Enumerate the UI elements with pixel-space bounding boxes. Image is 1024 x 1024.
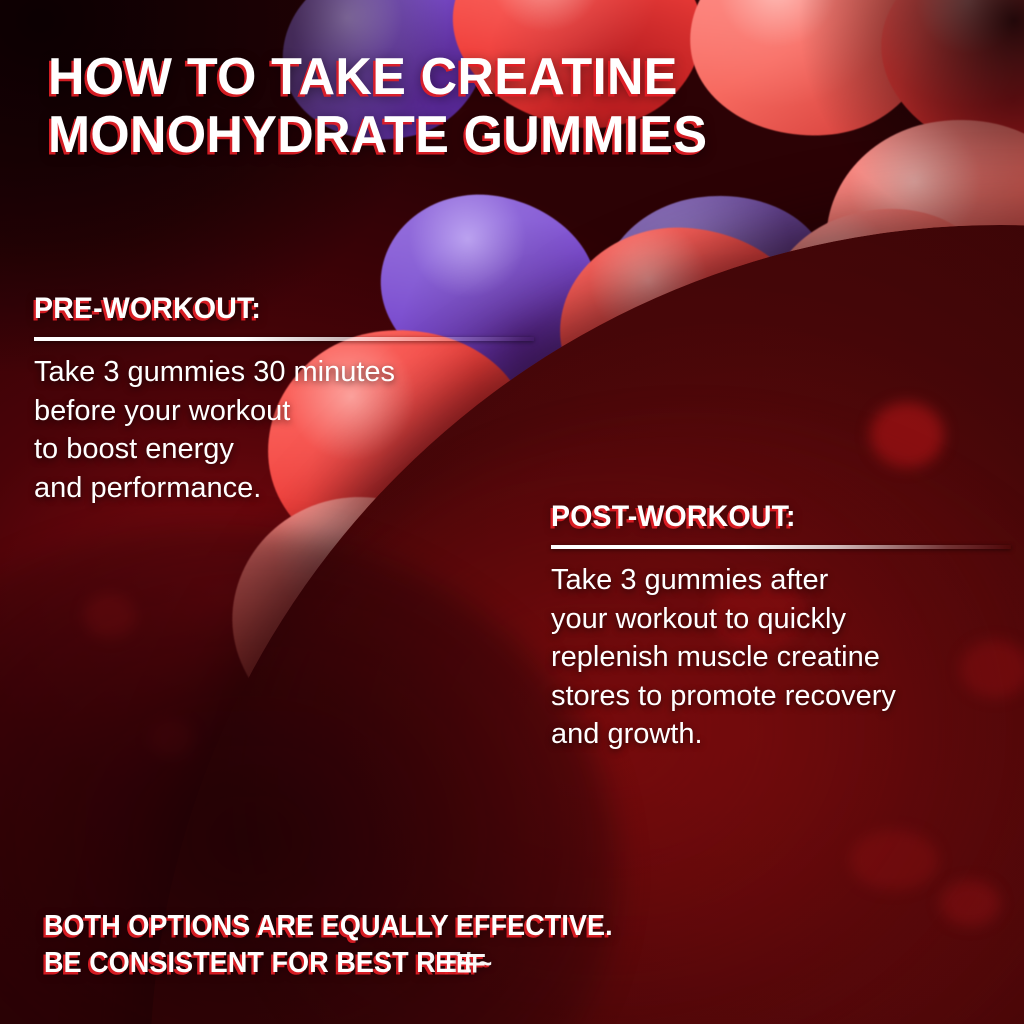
footer-line-2: BE CONSISTENT FOR BEST REEH'EFF~: [44, 945, 918, 982]
footer-glitched-word: EEH'EFF~: [436, 945, 467, 982]
pre-workout-section: PRE-WORKOUT: Take 3 gummies 30 minutes b…: [34, 292, 534, 507]
pre-workout-heading: PRE-WORKOUT:: [34, 292, 509, 326]
post-workout-heading: POST-WORKOUT:: [551, 500, 988, 534]
post-workout-body: Take 3 gummies after your workout to qui…: [551, 561, 1011, 754]
footer-callout: BOTH OPTIONS ARE EQUALLY EFFECTIVE. BE C…: [44, 908, 918, 982]
footer-glitch-layer-b: 'EFF~: [458, 947, 485, 981]
post-workout-underline: [551, 545, 1011, 549]
footer-line-1: BOTH OPTIONS ARE EQUALLY EFFECTIVE.: [44, 908, 918, 945]
page-title: HOW TO TAKE CREATINE MONOHYDRATE GUMMIES: [48, 48, 882, 164]
pre-workout-underline: [34, 337, 534, 341]
post-workout-section: POST-WORKOUT: Take 3 gummies after your …: [551, 500, 1011, 754]
footer-line-2-text: BE CONSISTENT FOR BEST R: [44, 947, 436, 979]
pre-workout-body: Take 3 gummies 30 minutes before your wo…: [34, 353, 534, 507]
infographic-poster: HOW TO TAKE CREATINE MONOHYDRATE GUMMIES…: [0, 0, 1024, 1024]
